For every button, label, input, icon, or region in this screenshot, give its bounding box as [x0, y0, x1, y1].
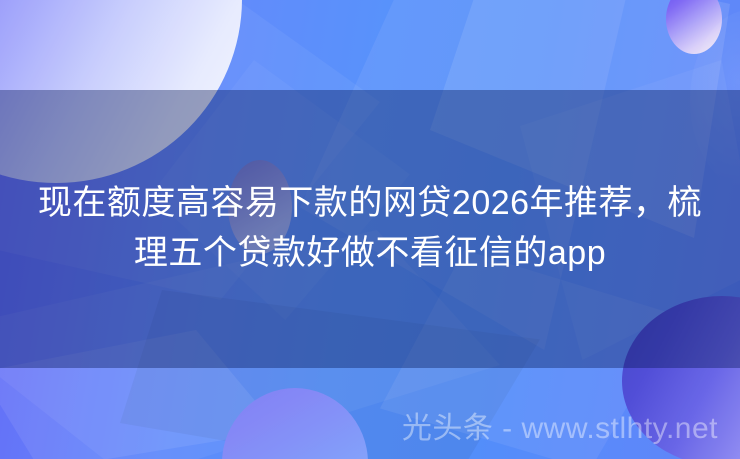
headline-container: 现在额度高容易下款的网贷2026年推荐，梳理五个贷款好做不看征信的app — [0, 178, 740, 278]
page-title: 现在额度高容易下款的网贷2026年推荐，梳理五个贷款好做不看征信的app — [30, 178, 710, 278]
site-watermark: 光头条 - www.stlhty.net — [402, 411, 718, 447]
banner-canvas: 现在额度高容易下款的网贷2026年推荐，梳理五个贷款好做不看征信的app 光头条… — [0, 0, 740, 459]
